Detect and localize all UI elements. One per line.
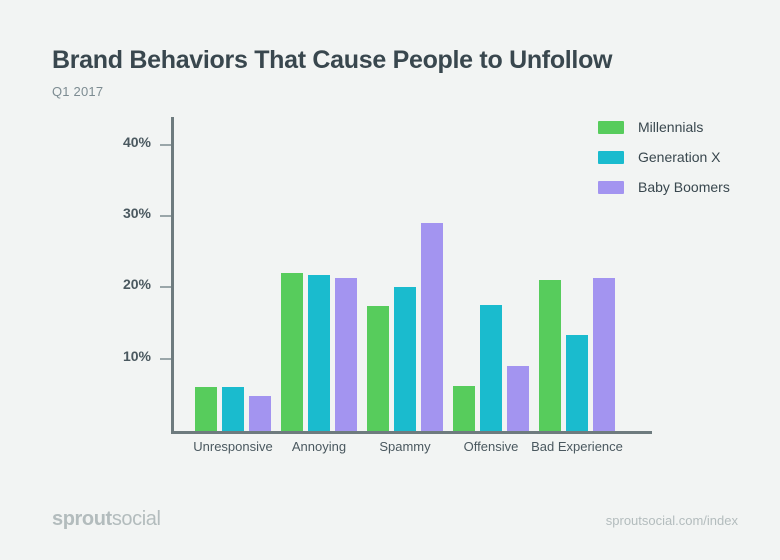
bar[interactable]: [394, 287, 416, 431]
bar-group: [367, 117, 443, 431]
bar[interactable]: [222, 387, 244, 431]
bar[interactable]: [539, 280, 561, 431]
y-axis-tick: 30%: [160, 215, 171, 217]
bar[interactable]: [566, 335, 588, 431]
y-axis-tick-label: 40%: [123, 134, 151, 150]
x-axis-line: [171, 431, 652, 434]
bar-group: [281, 117, 357, 431]
bar[interactable]: [507, 366, 529, 431]
logo-light-text: social: [112, 508, 161, 530]
y-axis-tick-label: 20%: [123, 276, 151, 292]
bar[interactable]: [421, 223, 443, 431]
bar-group: [195, 117, 271, 431]
bar[interactable]: [480, 305, 502, 431]
y-axis-tick: 10%: [160, 358, 171, 360]
footer-url: sproutsocial.com/index: [606, 513, 738, 528]
y-axis-line: [171, 117, 174, 433]
y-axis-tick-label: 10%: [123, 348, 151, 364]
bar[interactable]: [281, 273, 303, 431]
x-axis-category-label: Annoying: [292, 439, 346, 454]
bar[interactable]: [308, 275, 330, 431]
y-axis-tick: 20%: [160, 286, 171, 288]
x-axis-category-label: Offensive: [464, 439, 519, 454]
bar[interactable]: [367, 306, 389, 431]
y-axis-tick: 40%: [160, 144, 171, 146]
bar[interactable]: [593, 278, 615, 431]
bar-group: [539, 117, 615, 431]
x-axis-category-label: Spammy: [379, 439, 430, 454]
bar[interactable]: [335, 278, 357, 431]
bar[interactable]: [249, 396, 271, 431]
x-axis-category-label: Bad Experience: [531, 439, 623, 454]
chart-plot-area: 10%20%30%40% UnresponsiveAnnoyingSpammyO…: [171, 117, 652, 433]
sproutsocial-logo: sproutsocial: [52, 508, 161, 531]
y-axis-tick-label: 30%: [123, 205, 151, 221]
logo-bold-text: sprout: [52, 508, 112, 530]
page-title: Brand Behaviors That Cause People to Unf…: [52, 46, 612, 75]
chart-subtitle: Q1 2017: [52, 84, 103, 99]
x-axis-category-label: Unresponsive: [193, 439, 273, 454]
bar-group: [453, 117, 529, 431]
bar[interactable]: [453, 386, 475, 431]
bar[interactable]: [195, 387, 217, 431]
